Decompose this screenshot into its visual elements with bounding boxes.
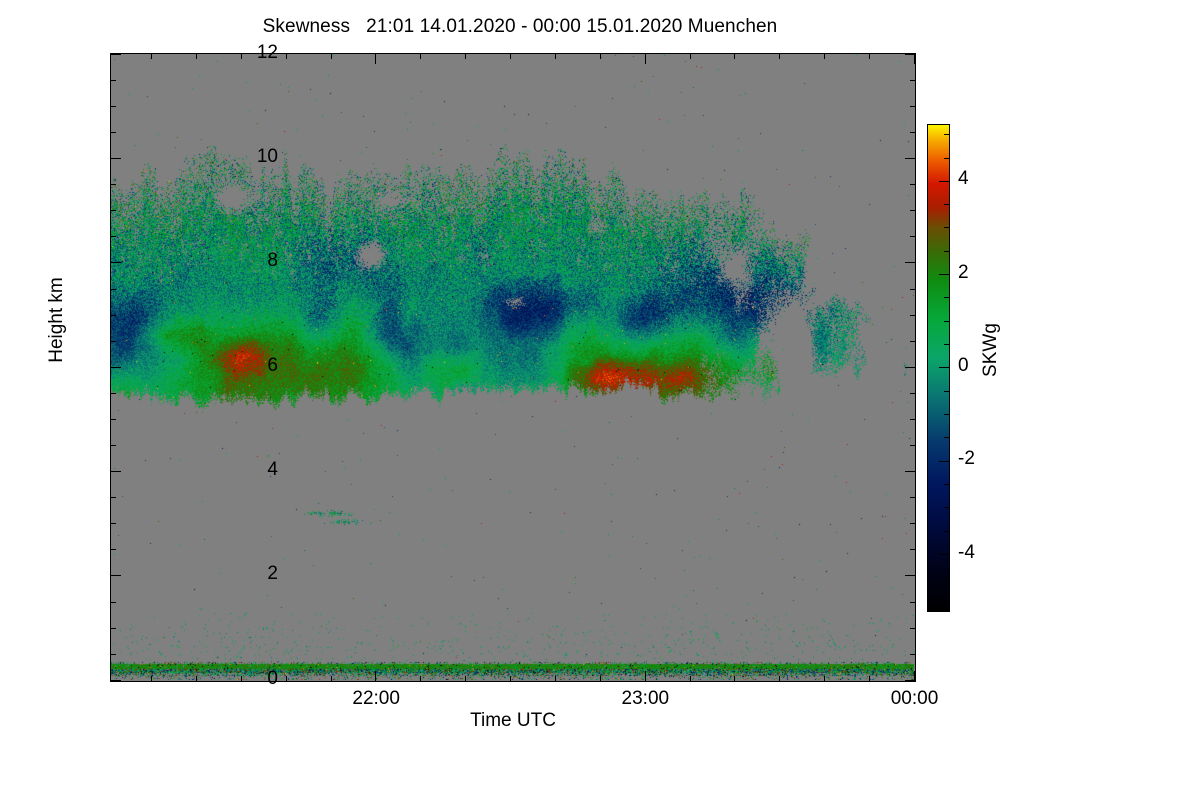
y-tick-minor bbox=[910, 445, 916, 446]
y-tick-major bbox=[905, 367, 916, 368]
y-tick-minor bbox=[110, 341, 116, 342]
y-tick-minor bbox=[910, 80, 916, 81]
x-tick-minor bbox=[555, 53, 556, 59]
x-tick-minor bbox=[690, 53, 691, 59]
x-tick-minor bbox=[600, 53, 601, 59]
y-tick-minor bbox=[110, 132, 116, 133]
y-tick-minor bbox=[910, 419, 916, 420]
y-tick-minor bbox=[910, 549, 916, 550]
y-tick-minor bbox=[110, 210, 116, 211]
colorbar-tick-minor bbox=[944, 414, 950, 415]
y-tick-minor bbox=[910, 628, 916, 629]
x-tick-minor bbox=[286, 676, 287, 682]
x-tick-label: 00:00 bbox=[855, 688, 975, 710]
colorbar-tick-minor bbox=[944, 297, 950, 298]
y-tick-minor bbox=[910, 236, 916, 237]
colorbar-tick-minor bbox=[944, 227, 950, 228]
x-tick-minor bbox=[869, 676, 870, 682]
y-tick-minor bbox=[910, 497, 916, 498]
y-tick-major bbox=[110, 262, 121, 263]
colorbar-tick-major bbox=[939, 461, 950, 462]
x-tick-minor bbox=[510, 676, 511, 682]
x-tick-label: 22:00 bbox=[316, 688, 436, 710]
y-tick-major bbox=[905, 262, 916, 263]
colorbar-tick-minor bbox=[944, 321, 950, 322]
y-tick-minor bbox=[910, 523, 916, 524]
y-tick-minor bbox=[110, 602, 116, 603]
y-tick-label: 8 bbox=[218, 250, 278, 272]
y-tick-minor bbox=[110, 393, 116, 394]
colorbar-tick-major bbox=[939, 274, 950, 275]
x-tick-minor bbox=[151, 676, 152, 682]
colorbar-tick-major bbox=[939, 554, 950, 555]
y-tick-major bbox=[905, 575, 916, 576]
x-tick-minor bbox=[779, 53, 780, 59]
y-tick-minor bbox=[110, 106, 116, 107]
y-tick-major bbox=[110, 471, 121, 472]
x-tick-label: 23:00 bbox=[585, 688, 705, 710]
y-tick-minor bbox=[910, 315, 916, 316]
y-tick-minor bbox=[110, 80, 116, 81]
x-tick-minor bbox=[465, 53, 466, 59]
y-tick-label: 12 bbox=[218, 42, 278, 64]
y-tick-major bbox=[110, 54, 121, 55]
y-tick-minor bbox=[110, 315, 116, 316]
colorbar-tick-minor bbox=[944, 204, 950, 205]
y-tick-minor bbox=[910, 602, 916, 603]
colorbar-tick-label: -2 bbox=[958, 448, 1008, 470]
y-tick-label: 6 bbox=[218, 355, 278, 377]
y-tick-label: 10 bbox=[218, 146, 278, 168]
colorbar-label: SKWg bbox=[980, 250, 1002, 450]
page-title: Skewness 21:01 14.01.2020 - 00:00 15.01.… bbox=[0, 16, 1040, 38]
x-tick-minor bbox=[600, 676, 601, 682]
y-tick-minor bbox=[110, 628, 116, 629]
x-tick-minor bbox=[555, 676, 556, 682]
x-tick-minor bbox=[690, 676, 691, 682]
colorbar-tick-major bbox=[939, 367, 950, 368]
colorbar-tick-minor bbox=[944, 391, 950, 392]
y-tick-minor bbox=[910, 289, 916, 290]
y-tick-minor bbox=[110, 654, 116, 655]
y-tick-major bbox=[110, 367, 121, 368]
x-tick-minor bbox=[734, 676, 735, 682]
y-tick-major bbox=[110, 680, 121, 681]
y-tick-minor bbox=[110, 549, 116, 550]
y-tick-minor bbox=[110, 184, 116, 185]
x-tick-major bbox=[914, 671, 915, 682]
skewness-figure: Skewness 21:01 14.01.2020 - 00:00 15.01.… bbox=[0, 0, 1200, 800]
colorbar-tick-minor bbox=[944, 531, 950, 532]
x-tick-minor bbox=[151, 53, 152, 59]
x-tick-minor bbox=[331, 676, 332, 682]
x-tick-minor bbox=[286, 53, 287, 59]
y-tick-minor bbox=[110, 497, 116, 498]
y-tick-minor bbox=[910, 341, 916, 342]
colorbar-tick-minor bbox=[944, 344, 950, 345]
x-tick-minor bbox=[420, 676, 421, 682]
y-tick-minor bbox=[110, 419, 116, 420]
x-tick-minor bbox=[824, 676, 825, 682]
colorbar-tick-minor bbox=[944, 134, 950, 135]
colorbar-tick-label: -4 bbox=[958, 542, 1008, 564]
y-tick-label: 0 bbox=[218, 668, 278, 690]
x-tick-minor bbox=[331, 53, 332, 59]
x-tick-minor bbox=[241, 53, 242, 59]
y-tick-minor bbox=[910, 184, 916, 185]
colorbar-tick-minor bbox=[944, 507, 950, 508]
colorbar-tick-minor bbox=[944, 437, 950, 438]
x-tick-minor bbox=[869, 53, 870, 59]
y-tick-minor bbox=[110, 445, 116, 446]
colorbar-tick-minor bbox=[944, 158, 950, 159]
y-tick-minor bbox=[910, 393, 916, 394]
y-tick-minor bbox=[110, 523, 116, 524]
y-axis-label: Height km bbox=[46, 220, 68, 420]
x-tick-minor bbox=[420, 53, 421, 59]
x-tick-major bbox=[375, 53, 376, 64]
x-tick-major bbox=[645, 53, 646, 64]
y-tick-major bbox=[110, 575, 121, 576]
x-tick-minor bbox=[196, 676, 197, 682]
y-tick-major bbox=[905, 158, 916, 159]
colorbar-tick-label: 4 bbox=[958, 168, 1008, 190]
x-tick-minor bbox=[734, 53, 735, 59]
x-tick-minor bbox=[196, 53, 197, 59]
colorbar-tick-minor bbox=[944, 577, 950, 578]
colorbar-tick-minor bbox=[944, 251, 950, 252]
colorbar-tick-major bbox=[939, 181, 950, 182]
x-tick-minor bbox=[824, 53, 825, 59]
x-tick-minor bbox=[241, 676, 242, 682]
y-tick-minor bbox=[110, 289, 116, 290]
y-tick-minor bbox=[910, 132, 916, 133]
colorbar-tick-minor bbox=[944, 484, 950, 485]
x-tick-major bbox=[375, 671, 376, 682]
x-axis-label: Time UTC bbox=[110, 710, 916, 732]
y-tick-minor bbox=[910, 106, 916, 107]
y-tick-label: 2 bbox=[218, 563, 278, 585]
colorbar-tick-minor bbox=[944, 601, 950, 602]
x-tick-major bbox=[645, 671, 646, 682]
y-tick-minor bbox=[110, 236, 116, 237]
y-tick-minor bbox=[910, 654, 916, 655]
y-tick-label: 4 bbox=[218, 459, 278, 481]
y-tick-major bbox=[110, 158, 121, 159]
y-tick-major bbox=[905, 471, 916, 472]
x-tick-minor bbox=[510, 53, 511, 59]
y-tick-minor bbox=[910, 210, 916, 211]
x-tick-major bbox=[914, 53, 915, 64]
x-tick-minor bbox=[465, 676, 466, 682]
x-tick-minor bbox=[779, 676, 780, 682]
